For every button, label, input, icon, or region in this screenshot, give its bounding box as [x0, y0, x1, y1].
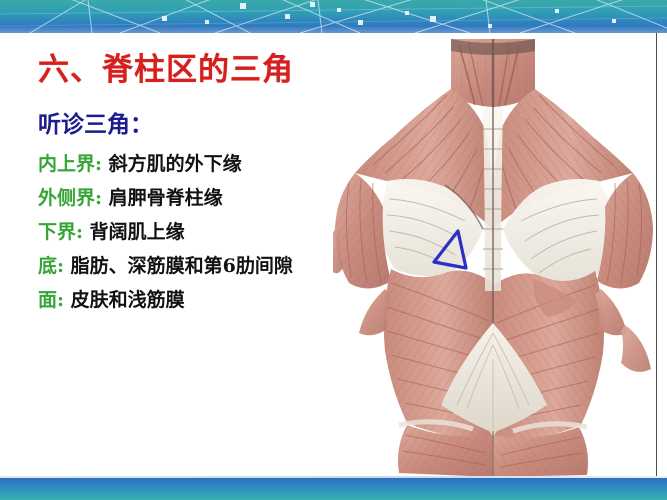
slide-root: 六、脊柱区的三角 听诊三角： 内上界: 斜方肌的外下缘 外侧界: 肩胛骨脊柱缘 … — [0, 0, 667, 500]
bottom-bar — [0, 478, 667, 500]
list-item: 面: 皮肤和浅筋膜 — [38, 288, 358, 312]
section-subtitle: 听诊三角： — [38, 105, 153, 139]
list-item: 下界: 背阔肌上缘 — [38, 220, 358, 244]
definition-list: 内上界: 斜方肌的外下缘 外侧界: 肩胛骨脊柱缘 下界: 背阔肌上缘 底: 脂肪… — [38, 152, 358, 322]
back-muscles-anatomy-illustration — [333, 33, 655, 478]
list-item-label: 外侧界: — [38, 187, 102, 209]
list-item-label: 底: — [38, 255, 64, 277]
top-banner — [0, 0, 667, 33]
page-title: 六、脊柱区的三角 — [38, 44, 294, 89]
list-item-value: 斜方肌的外下缘 — [109, 153, 242, 175]
list-item: 底: 脂肪、深筋膜和第6肋间隙 — [38, 254, 358, 278]
neck-region — [451, 39, 535, 107]
right-border-rule — [656, 33, 657, 478]
list-item: 外侧界: 肩胛骨脊柱缘 — [38, 186, 358, 210]
list-item-label: 内上界: — [38, 153, 102, 175]
list-item: 内上界: 斜方肌的外下缘 — [38, 152, 358, 176]
list-item-value: 脂肪、深筋膜和第6肋间隙 — [71, 255, 293, 277]
list-item-value: 肩胛骨脊柱缘 — [109, 187, 223, 209]
list-item-label: 下界: — [38, 221, 83, 243]
list-item-value: 皮肤和浅筋膜 — [71, 289, 185, 311]
list-item-value: 背阔肌上缘 — [90, 221, 185, 243]
list-item-label: 面: — [38, 289, 64, 311]
